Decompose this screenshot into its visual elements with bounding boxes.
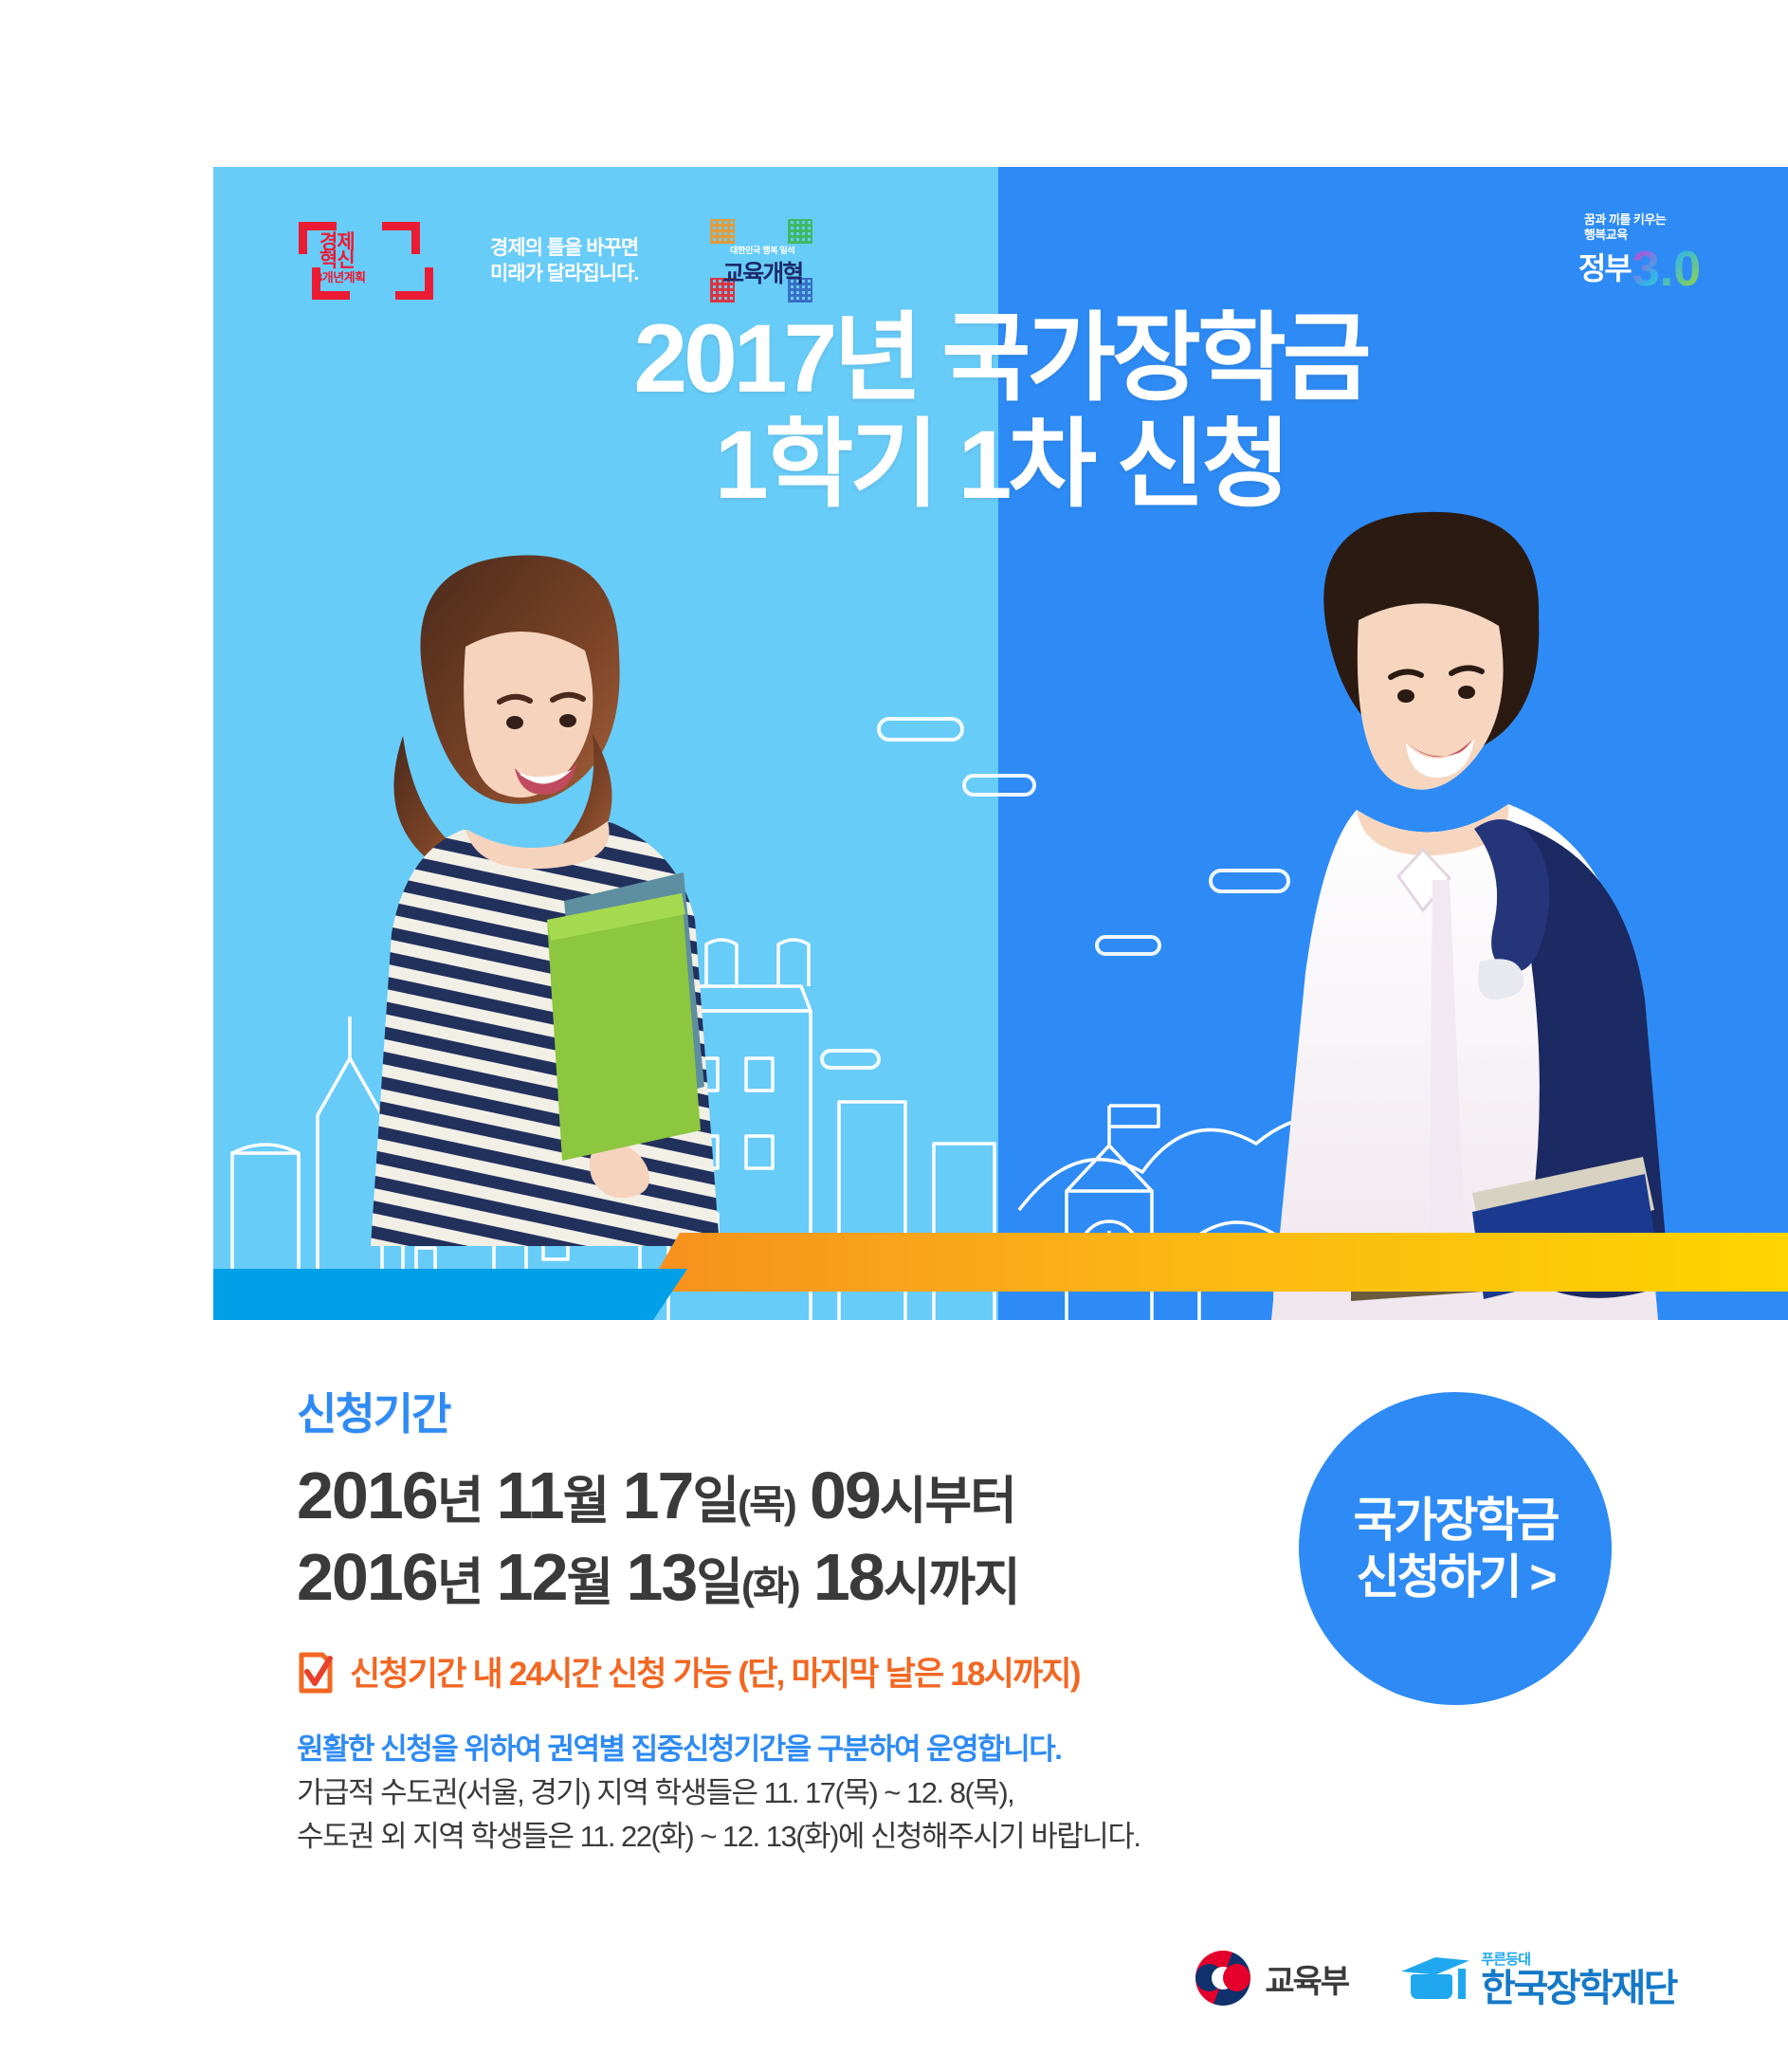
end-month: 12 xyxy=(497,1540,567,1614)
econ-logo-line3: 3개년계획 xyxy=(316,267,366,285)
female-student-photo xyxy=(280,525,735,1246)
cloud-icon xyxy=(1095,935,1161,956)
male-student-photo xyxy=(1171,442,1702,1320)
hero-panel: EDU 경제 혁신 3개년계획 경제의 틀을 바꾸면 미래가 달라집니다. 대한… xyxy=(213,167,1788,1320)
ministry-label: 교육부 xyxy=(1265,1955,1348,2002)
guidance-line-1: 원활한 신청을 위하여 권역별 집중신청기간을 구분하여 운영합니다. xyxy=(297,1728,1273,1771)
end-day: 13 xyxy=(626,1540,696,1614)
availability-note: 신청기간 내 24시간 신청 가능 (단, 마지막 날은 18시까지) xyxy=(297,1647,1273,1696)
headline-line-1: 2017년 국가장학금 xyxy=(213,305,1788,412)
checkbox-checked-icon xyxy=(297,1649,335,1695)
start-day: 17 xyxy=(623,1458,693,1532)
end-day-unit: 일 xyxy=(696,1554,741,1611)
start-hour-unit: 시부터 xyxy=(880,1473,1015,1530)
regional-guidance: 원활한 신청을 위하여 권역별 집중신청기간을 구분하여 운영합니다. 가급적 … xyxy=(297,1728,1273,1859)
end-dow: (화) xyxy=(741,1564,799,1608)
date-line-start: 2016년 11월 17일(목) 09시부터 xyxy=(297,1459,1273,1541)
taegeuk-icon xyxy=(1195,1951,1250,2006)
application-period-dates: 2016년 11월 17일(목) 09시부터 2016년 12월 13일(화) … xyxy=(297,1459,1273,1623)
banner-cyan-stripe xyxy=(213,1269,687,1320)
hero-bottom-banner xyxy=(213,1233,1788,1320)
start-dow: (목) xyxy=(738,1482,795,1527)
apply-scholarship-button[interactable]: 국가장학금 신청하기 > xyxy=(1299,1392,1612,1705)
footer-logos: 교육부 푸른등대 한국장학재단 xyxy=(0,1949,1788,2008)
start-year-unit: 년 xyxy=(437,1473,483,1530)
economy-tagline: 경제의 틀을 바꾸면 미래가 달라집니다. xyxy=(490,235,638,286)
gov30-number: 3.0 xyxy=(1633,250,1701,288)
guidance-line-3: 수도권 외 지역 학생들은 11. 22(화) ~ 12. 13(화)에 신청해… xyxy=(297,1815,1273,1859)
graduation-cap-icon xyxy=(1401,1953,1469,2003)
availability-note-text: 신청기간 내 24시간 신청 가능 (단, 마지막 날은 18시까지) xyxy=(350,1647,1080,1696)
kosaf-slogan: 푸른등대 xyxy=(1481,1949,1676,1969)
edu-reform-big: 교육개혁 xyxy=(716,255,809,289)
start-day-unit: 일 xyxy=(692,1473,738,1530)
start-hour: 09 xyxy=(810,1458,880,1532)
headline-line-2: 1학기 1차 신청 xyxy=(213,412,1788,518)
ministry-of-education-logo: 교육부 xyxy=(1195,1951,1348,2006)
cta-line-2: 신청하기 > xyxy=(1356,1549,1554,1605)
start-month: 11 xyxy=(497,1458,563,1532)
end-month-unit: 월 xyxy=(567,1554,612,1611)
partner-logos: 경제 혁신 3개년계획 경제의 틀을 바꾸면 미래가 달라집니다. 대한민국 행… xyxy=(299,219,814,303)
page-title: 2017년 국가장학금 1학기 1차 신청 xyxy=(213,305,1788,518)
gov30-subtitle: 꿈과 끼를 키우는 행복교육 xyxy=(1584,212,1701,243)
kosaf-logo: 푸른등대 한국장학재단 xyxy=(1401,1949,1676,2008)
education-reform-logo: 대한민국 행복 일석 교육개혁 xyxy=(708,219,814,303)
cta-line-1: 국가장학금 xyxy=(1354,1492,1558,1549)
cloud-icon xyxy=(877,717,964,742)
end-year-unit: 년 xyxy=(437,1554,483,1611)
end-hour: 18 xyxy=(813,1540,884,1614)
economy-innovation-logo: 경제 혁신 3개년계획 xyxy=(299,222,420,300)
application-info: 신청기간 2016년 11월 17일(목) 09시부터 2016년 12월 13… xyxy=(297,1380,1273,1859)
cloud-icon xyxy=(962,774,1036,797)
end-year: 2016 xyxy=(297,1540,437,1614)
gov30-word: 정부 xyxy=(1578,245,1631,288)
start-year: 2016 xyxy=(297,1458,437,1532)
date-line-end: 2016년 12월 13일(화) 18시까지 xyxy=(297,1541,1273,1623)
kosaf-name: 한국장학재단 xyxy=(1481,1970,1676,2008)
start-month-unit: 월 xyxy=(563,1473,609,1530)
cloud-icon xyxy=(820,1049,881,1070)
application-period-label: 신청기간 xyxy=(297,1380,1273,1442)
end-hour-unit: 시까지 xyxy=(884,1554,1019,1611)
government-30-logo: 꿈과 끼를 키우는 행복교육 정부 3.0 xyxy=(1578,212,1701,288)
banner-orange-stripe xyxy=(646,1233,1788,1292)
guidance-line-2: 가급적 수도권(서울, 경기) 지역 학생들은 11. 17(목) ~ 12. … xyxy=(297,1771,1273,1815)
